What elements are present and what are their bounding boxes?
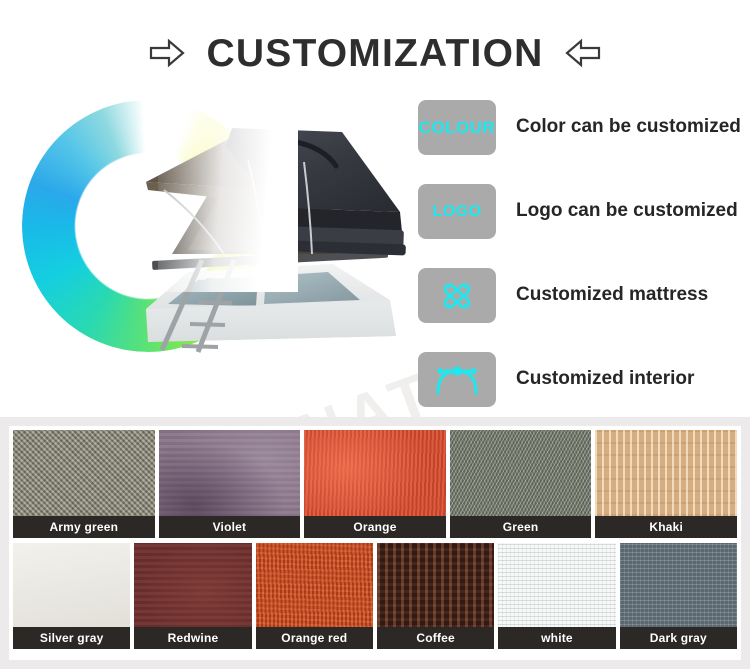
- swatch-item[interactable]: Coffee: [377, 543, 494, 649]
- swatch-item[interactable]: Green: [450, 430, 592, 538]
- swatch-item[interactable]: Orange red: [256, 543, 373, 649]
- page-header: CUSTOMIZATION: [0, 22, 750, 84]
- feature-label: Color can be customized: [516, 117, 741, 138]
- swatch-label: Orange: [304, 516, 446, 538]
- swatch-grid: Army green Violet Orange Green Khaki: [9, 426, 741, 660]
- swatch-item[interactable]: Redwine: [134, 543, 251, 649]
- swatch-label: Orange red: [256, 627, 373, 649]
- swatch-label: Khaki: [595, 516, 737, 538]
- swatch-row-top: Army green Violet Orange Green Khaki: [13, 430, 737, 538]
- swatch-row-bottom: Silver gray Redwine Orange red Coffee wh…: [13, 543, 737, 649]
- crossed-bandage-icon: [418, 268, 496, 323]
- swatch-item[interactable]: Orange: [304, 430, 446, 538]
- hero-illustration: [8, 92, 408, 402]
- feature-label: Customized interior: [516, 369, 694, 390]
- swatch-item[interactable]: Army green: [13, 430, 155, 538]
- bezier-curve-icon: [418, 352, 496, 407]
- feature-item-color[interactable]: COLOUR Color can be customized: [418, 100, 750, 155]
- swatch-label: Silver gray: [13, 627, 130, 649]
- swatch-label: Coffee: [377, 627, 494, 649]
- arrow-left-outline-icon: [565, 38, 601, 68]
- feature-label: Customized mattress: [516, 285, 708, 306]
- swatch-item[interactable]: Dark gray: [620, 543, 737, 649]
- swatch-label: Violet: [159, 516, 301, 538]
- feature-item-interior[interactable]: Customized interior: [418, 352, 750, 407]
- swatch-label: Green: [450, 516, 592, 538]
- logo-text-icon: LOGO: [418, 184, 496, 239]
- page-title: CUSTOMIZATION: [207, 34, 544, 73]
- swatch-label: Dark gray: [620, 627, 737, 649]
- fabric-swatch-panel: Army green Violet Orange Green Khaki: [0, 417, 750, 669]
- feature-list: COLOUR Color can be customized LOGO Logo…: [418, 100, 750, 407]
- swatch-label: white: [498, 627, 615, 649]
- colour-text-icon: COLOUR: [418, 100, 496, 155]
- swatch-item[interactable]: white: [498, 543, 615, 649]
- swatch-item[interactable]: Silver gray: [13, 543, 130, 649]
- arrow-right-outline-icon: [149, 38, 185, 68]
- feature-item-mattress[interactable]: Customized mattress: [418, 268, 750, 323]
- swatch-label: Army green: [13, 516, 155, 538]
- swatch-item[interactable]: Khaki: [595, 430, 737, 538]
- rooftop-tent-image: [128, 104, 408, 364]
- swatch-item[interactable]: Violet: [159, 430, 301, 538]
- customization-page: NAT CUSTOMIZATION: [0, 0, 750, 669]
- tile-label: LOGO: [432, 204, 481, 220]
- swatch-label: Redwine: [134, 627, 251, 649]
- feature-item-logo[interactable]: LOGO Logo can be customized: [418, 184, 750, 239]
- tile-label: COLOUR: [419, 119, 496, 136]
- feature-label: Logo can be customized: [516, 201, 738, 222]
